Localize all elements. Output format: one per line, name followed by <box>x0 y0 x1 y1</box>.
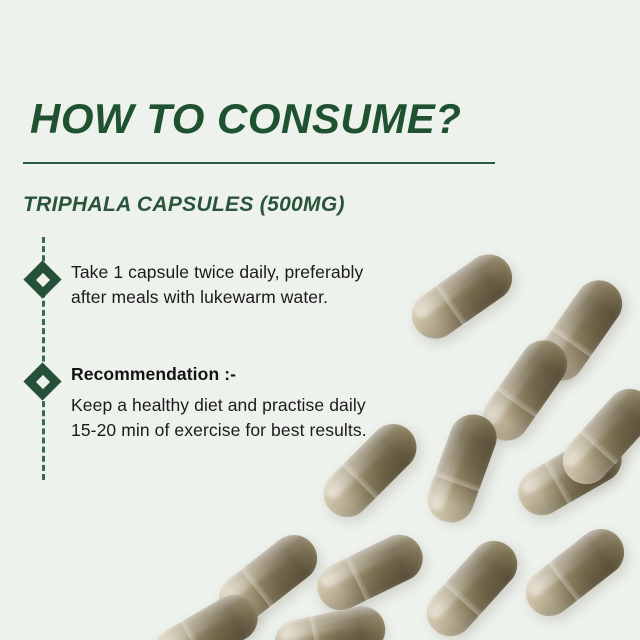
recommendation-heading: Recommendation :- <box>71 362 451 387</box>
instruction-text-2: Recommendation :- Keep a healthy diet an… <box>71 362 451 443</box>
diamond-bullet-icon <box>25 262 61 298</box>
instruction-line: 15-20 min of exercise for best results. <box>71 418 451 443</box>
page-title: HOW TO CONSUME? <box>30 96 461 142</box>
instruction-line: after meals with lukewarm water. <box>71 285 451 310</box>
instruction-text-1: Take 1 capsule twice daily, preferably a… <box>71 260 451 310</box>
poster-canvas: HOW TO CONSUME? TRIPHALA CAPSULES (500MG… <box>0 0 640 640</box>
diamond-bullet-icon <box>25 364 61 400</box>
title-divider <box>23 162 495 164</box>
product-subtitle: TRIPHALA CAPSULES (500MG) <box>23 192 345 218</box>
content-layer: HOW TO CONSUME? TRIPHALA CAPSULES (500MG… <box>0 0 640 640</box>
instruction-line: Keep a healthy diet and practise daily <box>71 393 451 418</box>
instruction-line: Take 1 capsule twice daily, preferably <box>71 260 451 285</box>
